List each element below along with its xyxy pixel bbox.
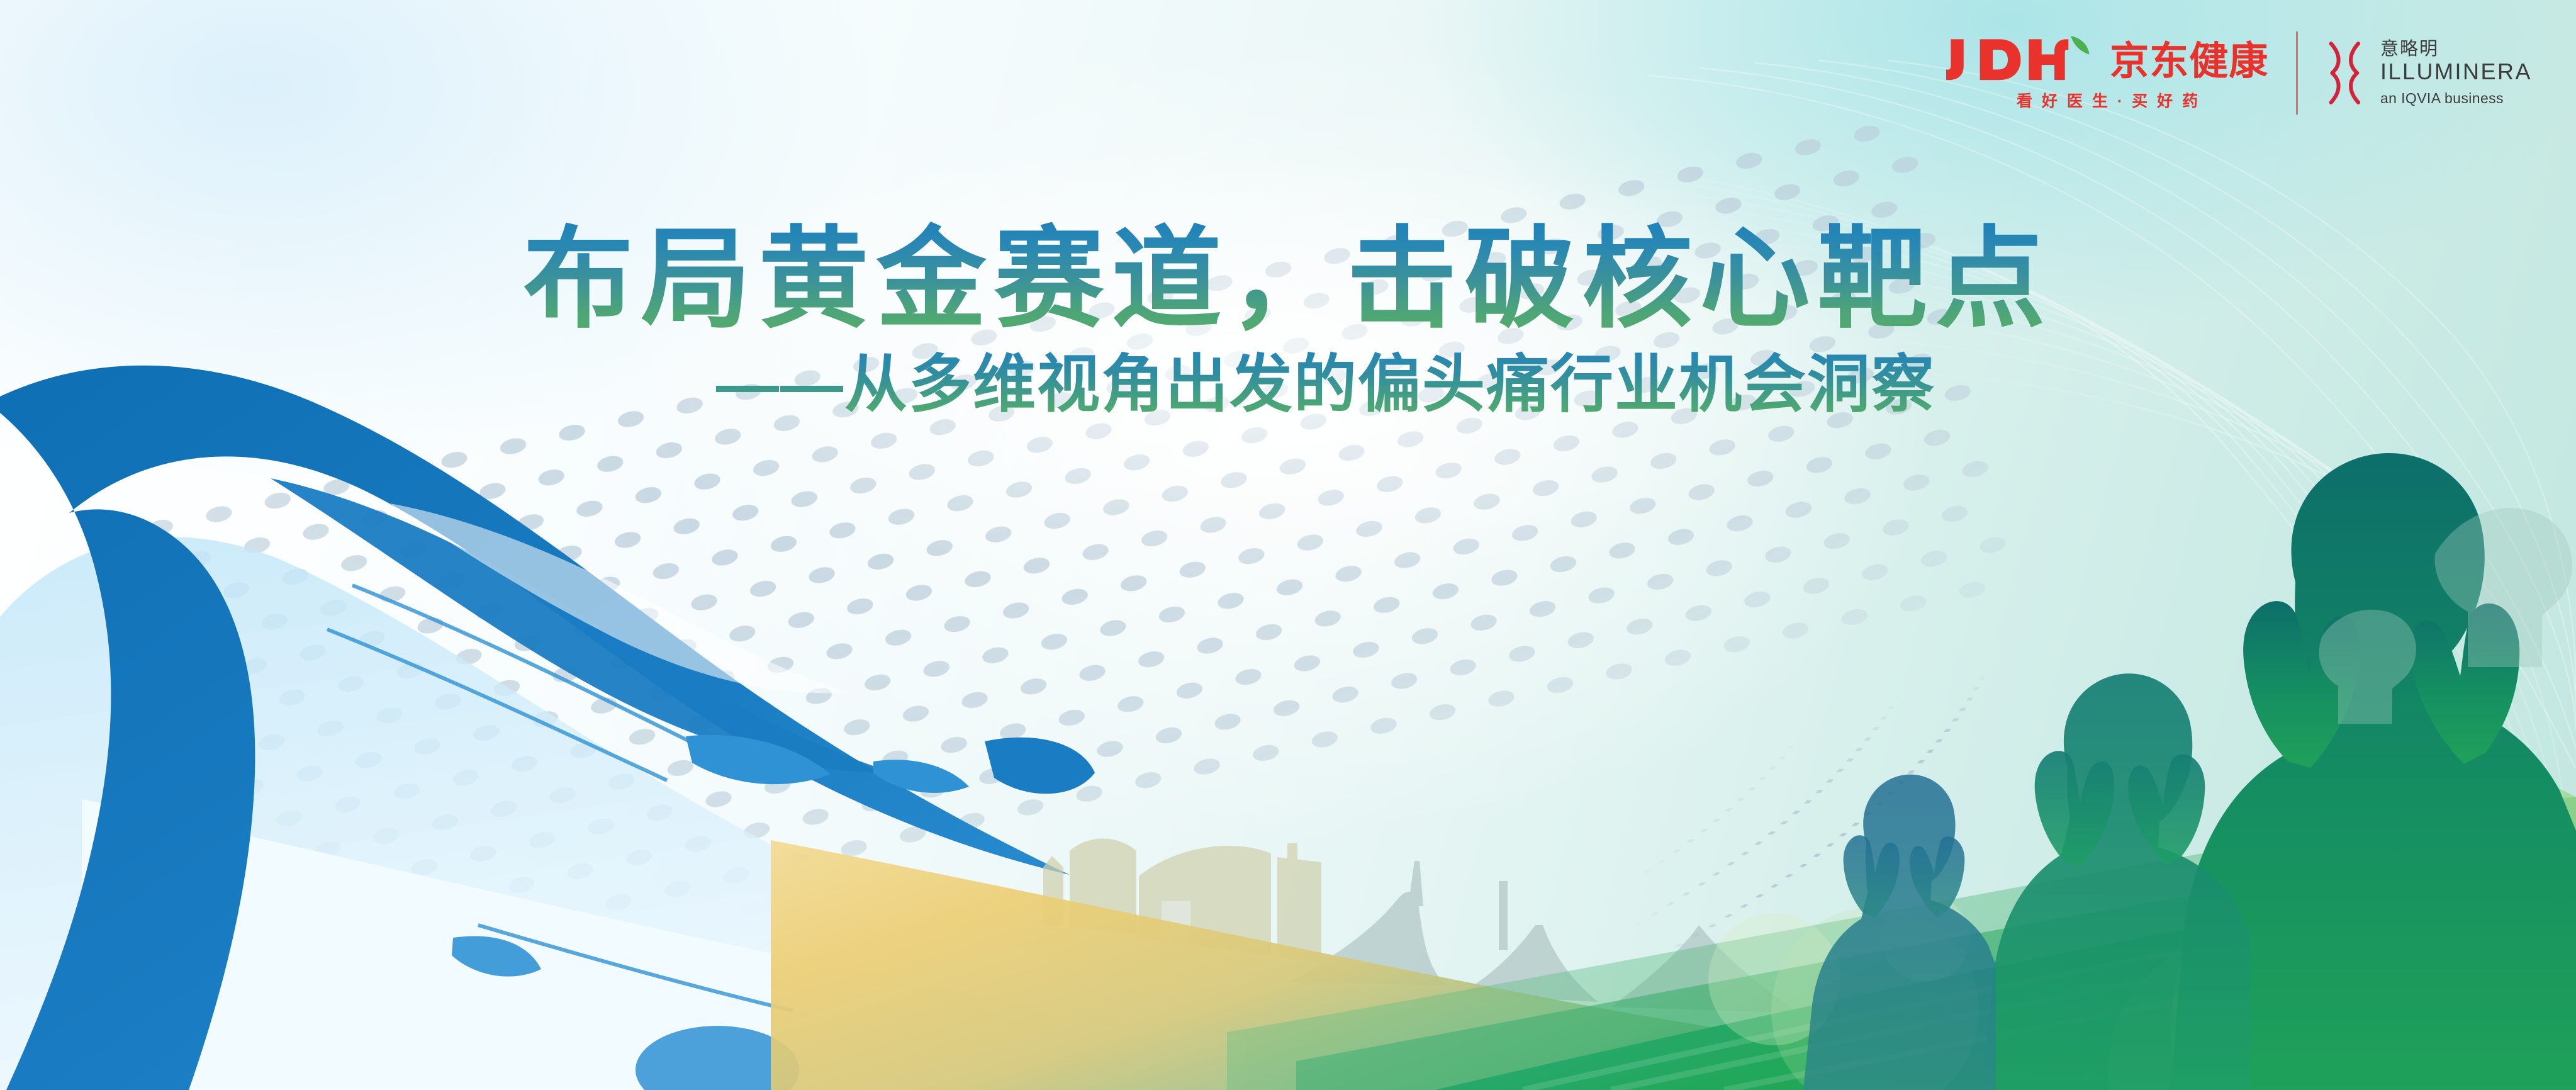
event-banner: 京东健康 看好医生·买好药 意略明 ILLUMINERA an IQVIA bu… [0,0,2576,1090]
illuminera-name-cn: 意略明 [2380,39,2532,59]
illuminera-name-en: ILLUMINERA [2380,59,2532,84]
logo-bar: 京东健康 看好医生·买好药 意略明 ILLUMINERA an IQVIA bu… [1946,31,2532,115]
illuminera-logo[interactable]: 意略明 ILLUMINERA an IQVIA business [2326,39,2532,107]
logo-divider [2296,31,2298,115]
jdh-wordmark-icon [1946,35,2098,81]
text-readability-veil [0,0,2576,1090]
jdh-name-cn: 京东健康 [2110,43,2268,81]
illuminera-subtitle: an IQVIA business [2380,90,2532,107]
illuminera-bracket-icon [2326,40,2364,106]
jdh-logo[interactable]: 京东健康 看好医生·买好药 [1946,35,2269,111]
jdh-tagline: 看好医生·买好药 [2007,89,2207,111]
